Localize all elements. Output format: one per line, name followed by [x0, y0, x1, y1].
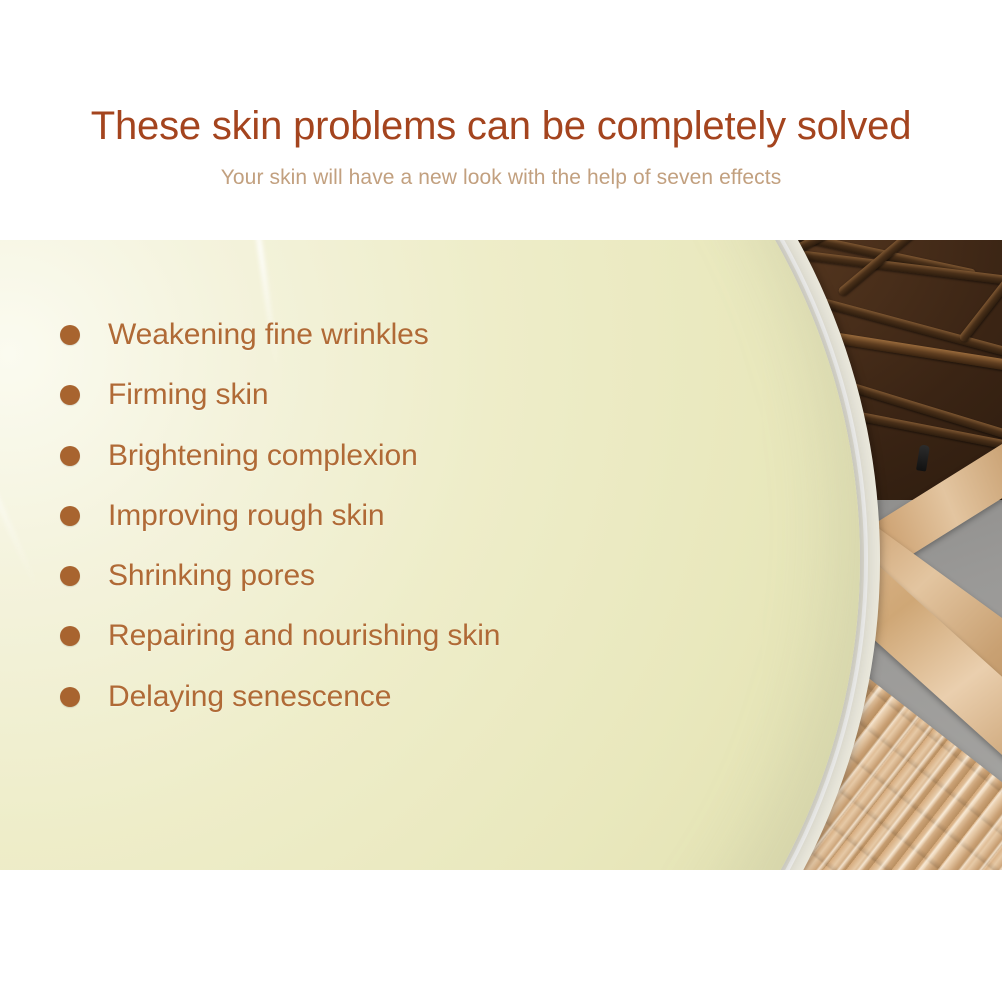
list-item: Repairing and nourishing skin — [60, 615, 500, 657]
list-item: Delaying senescence — [60, 676, 391, 718]
bullet-dot-icon — [60, 506, 80, 526]
list-item-label: Brightening complexion — [108, 439, 418, 473]
list-item: Weakening fine wrinkles — [60, 314, 429, 356]
list-item-label: Delaying senescence — [108, 680, 391, 714]
list-item: Shrinking pores — [60, 555, 315, 597]
footer-whitespace — [0, 870, 1002, 1002]
list-item-label: Shrinking pores — [108, 559, 315, 593]
product-benefits-banner: These skin problems can be completely so… — [0, 0, 1002, 1002]
list-item-label: Repairing and nourishing skin — [108, 619, 500, 653]
list-item: Brightening complexion — [60, 435, 418, 477]
page-title: These skin problems can be completely so… — [0, 104, 1002, 149]
page-subtitle: Your skin will have a new look with the … — [0, 166, 1002, 190]
bullet-dot-icon — [60, 446, 80, 466]
list-item: Improving rough skin — [60, 495, 384, 537]
list-item-label: Firming skin — [108, 378, 269, 412]
bullet-dot-icon — [60, 325, 80, 345]
bullet-dot-icon — [60, 687, 80, 707]
product-photo: Weakening fine wrinkles Firming skin Bri… — [0, 240, 1002, 870]
bullet-dot-icon — [60, 385, 80, 405]
bullet-dot-icon — [60, 566, 80, 586]
benefits-list: Weakening fine wrinkles Firming skin Bri… — [0, 240, 1002, 870]
header-section: These skin problems can be completely so… — [0, 0, 1002, 240]
bullet-dot-icon — [60, 626, 80, 646]
list-item: Firming skin — [60, 374, 269, 416]
list-item-label: Improving rough skin — [108, 499, 384, 533]
list-item-label: Weakening fine wrinkles — [108, 318, 429, 352]
